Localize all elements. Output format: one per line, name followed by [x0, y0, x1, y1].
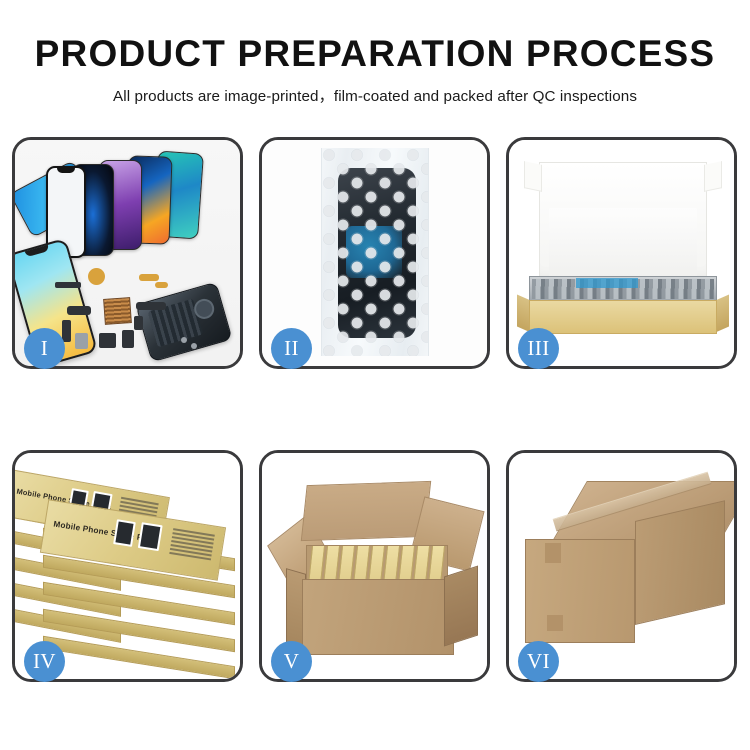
packed-product	[529, 276, 717, 302]
sim-tray-part	[75, 333, 88, 349]
flex-cable-part	[55, 282, 81, 288]
step-badge-6: VI	[518, 641, 559, 682]
step-panel-5[interactable]: V	[259, 450, 490, 682]
page-title: PRODUCT PREPARATION PROCESS	[0, 34, 750, 73]
camera-flex-part	[136, 302, 166, 310]
step-badge-5: V	[271, 641, 312, 682]
bracket-part	[67, 306, 91, 315]
product-preparation-infographic: PRODUCT PREPARATION PROCESS All products…	[0, 0, 750, 750]
copper-mesh-part	[103, 297, 132, 325]
header: PRODUCT PREPARATION PROCESS All products…	[0, 34, 750, 106]
process-step-grid: I II	[12, 137, 738, 682]
box-spec-list	[169, 528, 215, 562]
screw-part-b	[191, 343, 197, 349]
box-front-panel	[529, 300, 717, 334]
carton-flap-back	[301, 481, 431, 541]
carton-flap-nub-bottom	[547, 615, 563, 631]
foam-padding	[549, 208, 697, 282]
screw-part-a	[181, 337, 187, 343]
vibrator-part	[122, 330, 134, 348]
step-panel-6[interactable]: VI	[506, 450, 737, 682]
open-shipping-carton	[280, 479, 476, 659]
carton-side-right	[444, 565, 478, 646]
step-panel-4[interactable]: Mobile Phone Spare Parts Mobile Phon	[12, 450, 243, 682]
button-flex-part	[139, 274, 159, 281]
open-inner-box	[523, 162, 723, 344]
carton-front-face	[525, 539, 635, 643]
taptic-engine-part	[99, 333, 116, 348]
step-panel-3[interactable]: III	[506, 137, 737, 369]
step-panel-1[interactable]: I	[12, 137, 243, 369]
sealed-shipping-carton	[525, 481, 725, 653]
small-connector-part	[134, 316, 143, 330]
box-screen-image-a	[113, 519, 136, 547]
carton-right-face	[635, 500, 725, 625]
carton-front	[302, 579, 454, 655]
antenna-flex-part	[62, 320, 71, 342]
gold-connector-part	[155, 282, 168, 288]
bubble-texture	[322, 148, 428, 356]
step-badge-3: III	[518, 328, 559, 369]
phone-chassis	[135, 282, 232, 363]
bubble-wrap-bag	[321, 148, 429, 356]
speaker-part	[88, 268, 105, 285]
step-badge-1: I	[24, 328, 65, 369]
carton-flap-nub-top	[545, 543, 561, 563]
step-panel-2[interactable]: II	[259, 137, 490, 369]
page-subtitle: All products are image-printed，film-coat…	[0, 84, 750, 106]
step-badge-4: IV	[24, 641, 65, 682]
step-badge-2: II	[271, 328, 312, 369]
box-screen-image-b	[138, 522, 163, 551]
